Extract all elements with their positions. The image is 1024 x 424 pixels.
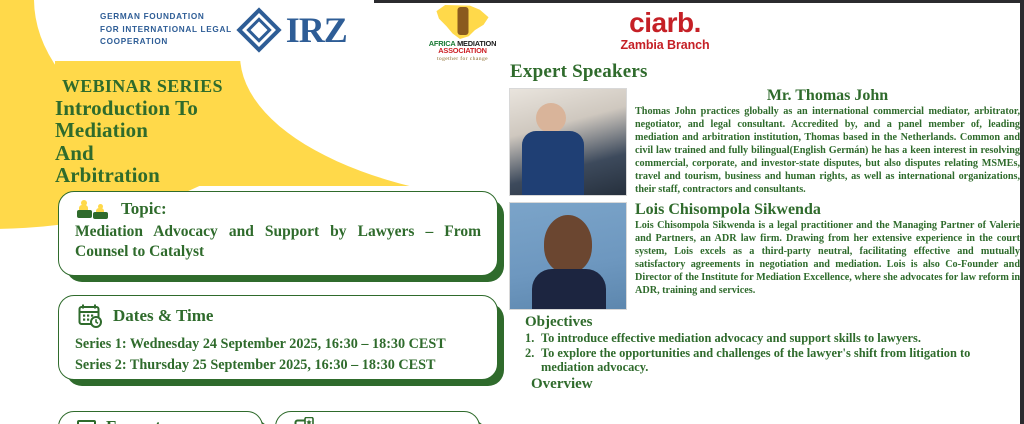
format-heading: Format: [106, 417, 161, 424]
format-card: Format: [58, 411, 263, 424]
calendar-clock-icon: [77, 303, 103, 329]
africa-map-icon: [432, 5, 494, 39]
dates-body: Series 1: Wednesday 24 September 2025, 1…: [59, 329, 497, 375]
list-item: 2. To explore the opportunities and chal…: [525, 346, 1014, 374]
irz-logo-text: German Foundation for International Lega…: [100, 11, 232, 49]
objective-number-1: 1.: [525, 331, 534, 345]
page-title-line: Mediation: [55, 119, 198, 141]
people-training-icon: [77, 199, 111, 219]
page-title-line: Introduction To: [55, 97, 198, 119]
page-title-line: And: [55, 142, 198, 164]
irz-diamond-icon: [239, 10, 279, 50]
extra-card-header: [276, 412, 479, 424]
ciarb-logo: ciarb. Zambia Branch: [605, 9, 725, 52]
africa-mediation-association-logo: AFRICA MEDIATION ASSOCIATION together fo…: [405, 5, 520, 62]
ciarb-wordmark: ciarb.: [605, 9, 725, 37]
certificate-icon: [294, 417, 316, 424]
ama-tagline: together for change: [405, 56, 520, 62]
ama-figure-icon: [457, 7, 468, 35]
ciarb-branch: Zambia Branch: [605, 38, 725, 52]
objective-text-1: To introduce effective mediation advocac…: [541, 331, 921, 345]
speaker-block-1: Mr. Thomas John Thomas John practices gl…: [505, 86, 1020, 198]
ama-name: AFRICA MEDIATION ASSOCIATION: [405, 40, 520, 55]
objective-text-2: To explore the opportunities and challen…: [541, 346, 970, 374]
irz-line-1: German Foundation: [100, 11, 232, 24]
right-column: Expert Speakers Mr. Thomas John Thomas J…: [505, 61, 1020, 424]
list-item: 1. To introduce effective mediation advo…: [525, 331, 1014, 345]
left-column: WEBINAR SERIES Introduction ToMediationA…: [0, 63, 505, 424]
overview-heading: Overview: [531, 376, 1020, 393]
dates-time-card: Dates & Time Series 1: Wednesday 24 Sept…: [58, 295, 498, 380]
webinar-series-label: WEBINAR SERIES: [62, 76, 223, 97]
page-title-line: Arbitration: [55, 164, 198, 186]
topic-card: Topic: Mediation Advocacy and Support by…: [58, 191, 498, 276]
irz-acronym: IRZ: [286, 12, 347, 48]
dates-heading: Dates & Time: [113, 306, 213, 326]
series-2-datetime: Series 2: Thursday 25 September 2025, 16…: [75, 355, 481, 376]
ama-word-association: ASSOCIATION: [438, 46, 487, 55]
speaker-block-2: Lois Chisompola Sikwenda Lois Chisompola…: [505, 200, 1020, 312]
objective-number-2: 2.: [525, 346, 534, 360]
logo-bar: German Foundation for International Lega…: [0, 3, 1024, 60]
screen-icon: [77, 420, 96, 424]
objectives-heading: Objectives: [525, 314, 1020, 331]
speaker-photo-thomas-john: [509, 88, 627, 196]
topic-text: Mediation Advocacy and Support by Lawyer…: [59, 219, 497, 262]
topic-card-header: Topic:: [59, 192, 497, 219]
extra-card: [275, 411, 480, 424]
irz-line-3: Cooperation: [100, 36, 232, 49]
series-1-datetime: Series 1: Wednesday 24 September 2025, 1…: [75, 334, 481, 355]
dates-card-header: Dates & Time: [59, 296, 497, 329]
speaker-photo-lois-sikwenda: [509, 202, 627, 310]
topic-heading: Topic:: [121, 199, 167, 219]
page-title: Introduction ToMediationAndArbitration: [55, 97, 198, 186]
expert-speakers-heading: Expert Speakers: [510, 61, 1020, 83]
format-card-header: Format: [59, 412, 262, 424]
irz-line-2: for International Legal: [100, 24, 232, 37]
irz-logo: German Foundation for International Lega…: [100, 10, 347, 50]
objectives-list: 1. To introduce effective mediation advo…: [505, 331, 1020, 374]
